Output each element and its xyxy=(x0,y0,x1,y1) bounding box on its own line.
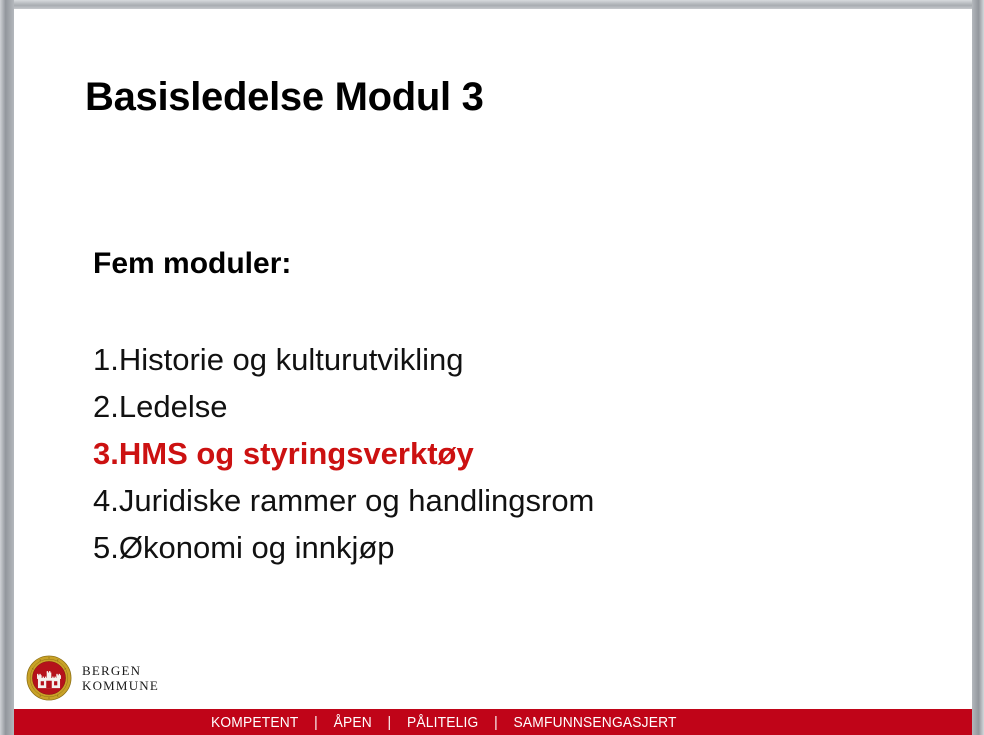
footer-separator: | xyxy=(372,714,407,731)
list-item-number: 3. xyxy=(93,436,119,471)
list-item-highlighted: 3.HMS og styringsverktøy xyxy=(93,430,594,477)
list-item-number: 4. xyxy=(93,483,119,518)
footer-value-apen: ÅPEN xyxy=(334,714,372,731)
body-heading: Fem moduler: xyxy=(93,247,291,281)
organization-logo: BERGEN KOMMUNE xyxy=(26,655,159,701)
footer-bar: KOMPETENT | ÅPEN | PÅLITELIG | SAMFUNNSE… xyxy=(14,709,972,735)
module-list: 1.Historie og kulturutvikling 2.Ledelse … xyxy=(93,336,594,571)
frame-border-left xyxy=(0,0,14,735)
footer-separator: | xyxy=(299,714,334,731)
bergen-kommune-seal-icon xyxy=(26,655,72,701)
list-item: 2.Ledelse xyxy=(93,383,594,430)
slide-frame: Basisledelse Modul 3 Fem moduler: 1.Hist… xyxy=(0,0,984,735)
footer-separator: | xyxy=(478,714,513,731)
list-item-label: Ledelse xyxy=(119,389,228,424)
organization-logo-text: BERGEN KOMMUNE xyxy=(82,663,159,693)
list-item-number: 1. xyxy=(93,342,119,377)
list-item: 4.Juridiske rammer og handlingsrom xyxy=(93,477,594,524)
organization-name-line1: BERGEN xyxy=(82,663,159,678)
page-title: Basisledelse Modul 3 xyxy=(85,75,484,120)
footer-values: KOMPETENT | ÅPEN | PÅLITELIG | SAMFUNNSE… xyxy=(211,714,677,731)
frame-border-top xyxy=(0,0,984,9)
list-item-label: HMS og styringsverktøy xyxy=(119,436,474,471)
frame-border-right xyxy=(972,0,984,735)
list-item-label: Økonomi og innkjøp xyxy=(119,530,395,565)
list-item: 5.Økonomi og innkjøp xyxy=(93,524,594,571)
list-item-number: 2. xyxy=(93,389,119,424)
footer-value-kompetent: KOMPETENT xyxy=(211,714,299,731)
slide-canvas: Basisledelse Modul 3 Fem moduler: 1.Hist… xyxy=(14,9,972,735)
footer-value-samfunnsengasjert: SAMFUNNSENGASJERT xyxy=(513,714,676,731)
organization-name-line2: KOMMUNE xyxy=(82,678,159,693)
list-item-label: Juridiske rammer og handlingsrom xyxy=(119,483,595,518)
list-item-label: Historie og kulturutvikling xyxy=(119,342,464,377)
list-item-number: 5. xyxy=(93,530,119,565)
list-item: 1.Historie og kulturutvikling xyxy=(93,336,594,383)
footer-value-palitelig: PÅLITELIG xyxy=(407,714,478,731)
